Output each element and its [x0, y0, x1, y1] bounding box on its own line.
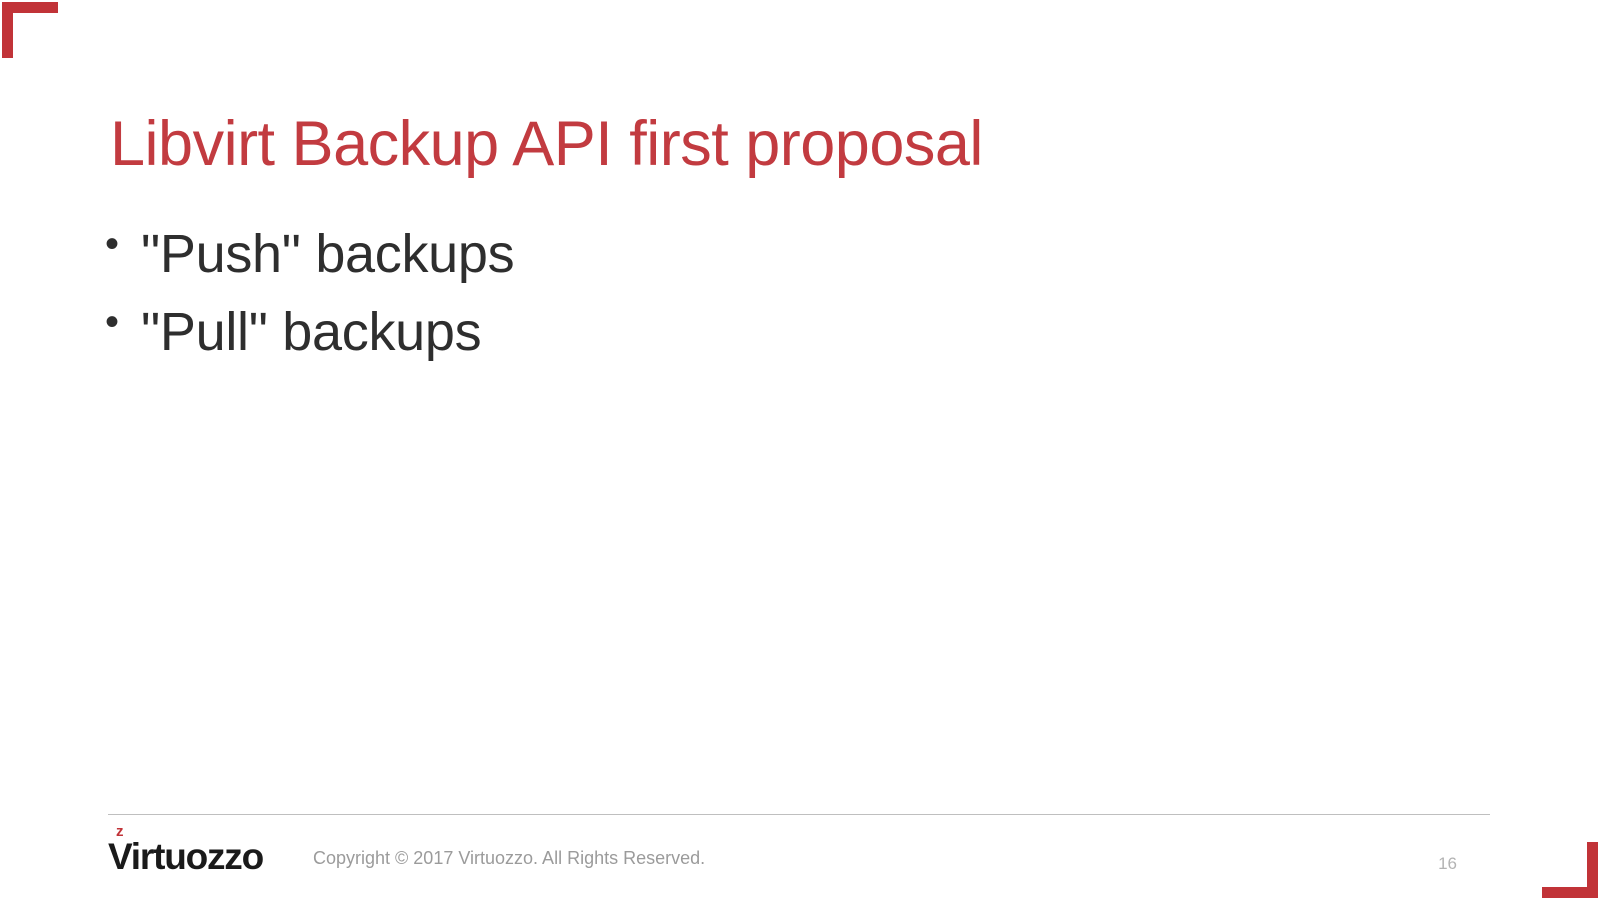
bullet-list: • "Push" backups • "Pull" backups	[105, 215, 1305, 372]
page-number: 16	[1438, 854, 1457, 874]
list-item: • "Push" backups	[105, 215, 1305, 293]
logo-superscript-z-icon: z	[116, 824, 124, 839]
list-item: • "Pull" backups	[105, 293, 1305, 371]
corner-bracket-vertical-bar	[1587, 842, 1598, 898]
list-item-label: "Push" backups	[141, 215, 514, 293]
bullet-marker-icon: •	[105, 293, 141, 351]
corner-bracket-top-left-icon	[2, 2, 58, 58]
slide-title: Libvirt Backup API first proposal	[110, 110, 983, 179]
corner-bracket-vertical-bar	[2, 2, 13, 58]
bullet-marker-icon: •	[105, 215, 141, 273]
list-item-label: "Pull" backups	[141, 293, 481, 371]
corner-bracket-bottom-right-icon	[1542, 842, 1598, 898]
slide-footer: Virtuozzo z Copyright © 2017 Virtuozzo. …	[108, 826, 1490, 882]
copyright-text: Copyright © 2017 Virtuozzo. All Rights R…	[313, 848, 705, 869]
footer-divider	[108, 814, 1490, 815]
logo-wordmark: Virtuozzo	[108, 838, 263, 875]
slide: Libvirt Backup API first proposal • "Pus…	[0, 0, 1600, 900]
virtuozzo-logo: Virtuozzo z	[108, 838, 263, 876]
